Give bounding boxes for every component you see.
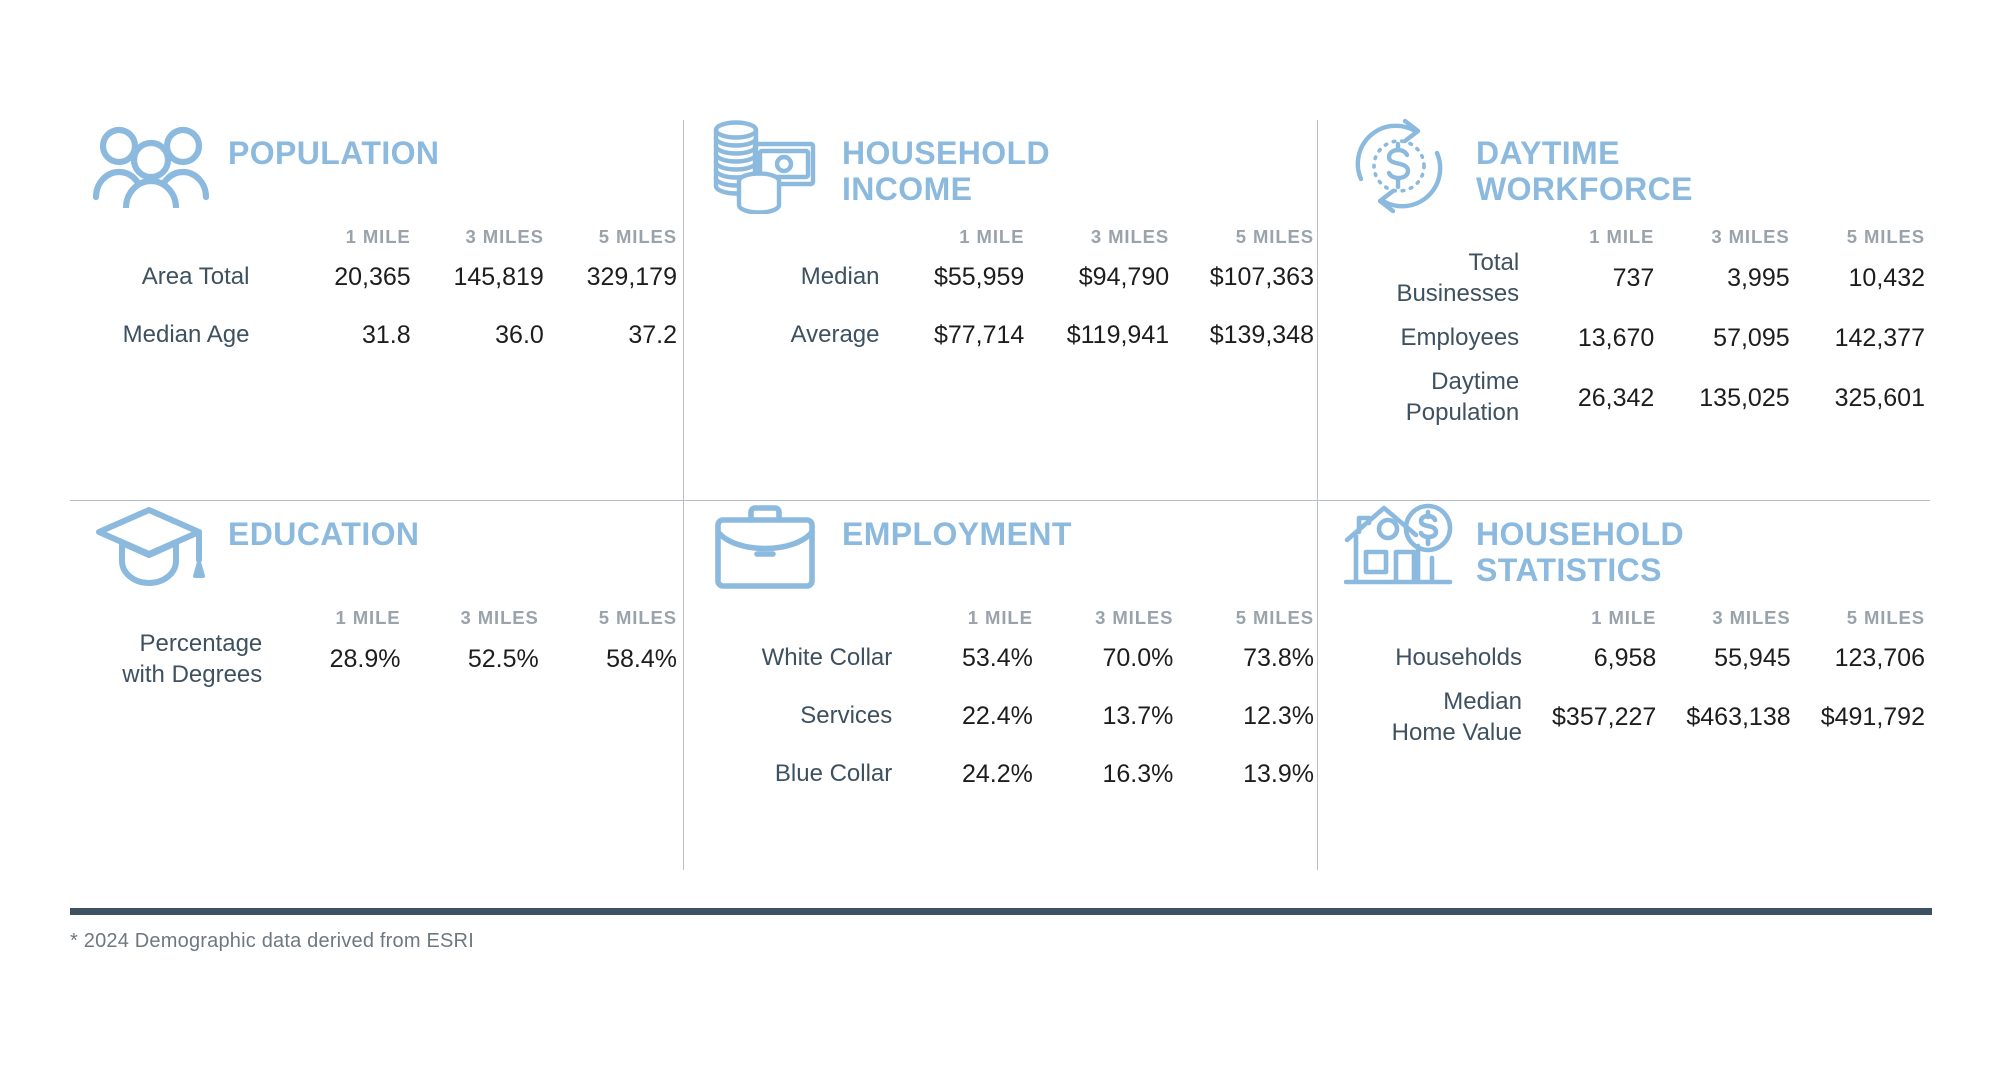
column-header-5miles: 5 MILES [1173,607,1314,629]
cell-value: $357,227 [1522,687,1656,748]
panel-title-population: POPULATION [228,120,439,172]
table-header-row: 1 MILE 3 MILES 5 MILES [1340,607,1925,629]
cell-value: 31.8 [279,306,410,364]
panel-title-daytime-workforce: DAYTIME WORKFORCE [1476,120,1693,208]
cell-value: $77,714 [880,306,1025,364]
column-header-3miles: 3 MILES [411,226,544,248]
column-header-5miles: 5 MILES [1790,226,1925,248]
table-header-row: 1 MILE 3 MILES 5 MILES [714,226,1314,248]
table-row: Total Businesses 737 3,995 10,432 [1340,248,1925,309]
table-row: Median $55,959 $94,790 $107,363 [714,248,1314,306]
row-label: Median Age [92,306,279,364]
column-header-3miles: 3 MILES [1024,226,1169,248]
cell-value: $119,941 [1024,306,1169,364]
panel-header-household-income: HOUSEHOLD INCOME [684,120,1317,216]
table-row: Daytime Population 26,342 135,025 325,60… [1340,367,1925,428]
panel-household-income: HOUSEHOLD INCOME 1 MILE 3 MILES 5 MILES … [683,120,1317,500]
panel-title-household-income: HOUSEHOLD INCOME [842,120,1050,208]
panel-employment: EMPLOYMENT 1 MILE 3 MILES 5 MILES White … [683,500,1317,870]
panel-population: POPULATION 1 MILE 3 MILES 5 MILES Area T… [70,120,683,500]
table-row: White Collar 53.4% 70.0% 73.8% [714,629,1314,687]
table-row: Median Age 31.8 36.0 37.2 [92,306,677,364]
cell-value: $139,348 [1169,306,1314,364]
column-header-3miles: 3 MILES [401,607,539,629]
panel-daytime-workforce: DAYTIME WORKFORCE 1 MILE 3 MILES 5 MILES… [1317,120,1930,500]
briefcase-icon [706,501,824,593]
column-header-5miles: 5 MILES [1791,607,1925,629]
table-employment: 1 MILE 3 MILES 5 MILES White Collar 53.4… [714,607,1314,803]
graduation-cap-icon [92,501,210,593]
cell-value: $463,138 [1656,687,1790,748]
column-header-5miles: 5 MILES [1169,226,1314,248]
cell-value: 329,179 [544,248,677,306]
table-population: 1 MILE 3 MILES 5 MILES Area Total 20,365… [92,226,677,364]
row-label-header [1340,226,1519,248]
panel-title-employment: EMPLOYMENT [842,501,1072,553]
house-dollar-icon [1340,501,1458,593]
people-group-icon [92,120,210,212]
row-label-header [1340,607,1522,629]
table-row: Average $77,714 $119,941 $139,348 [714,306,1314,364]
row-label: Daytime Population [1340,367,1519,428]
table-row: Employees 13,670 57,095 142,377 [1340,309,1925,367]
cell-value: 37.2 [544,306,677,364]
panel-education: EDUCATION 1 MILE 3 MILES 5 MILES Percent… [70,500,683,870]
table-header-row: 1 MILE 3 MILES 5 MILES [92,607,677,629]
cell-value: 325,601 [1790,367,1925,428]
coins-cash-icon [706,120,824,212]
panel-header-education: EDUCATION [70,501,683,597]
column-header-1mile: 1 MILE [892,607,1033,629]
table-row: Median Home Value $357,227 $463,138 $491… [1340,687,1925,748]
footer-note: * 2024 Demographic data derived from ESR… [70,930,474,953]
table-daytime-workforce: 1 MILE 3 MILES 5 MILES Total Businesses … [1340,226,1925,429]
cell-value: 22.4% [892,687,1033,745]
row-label-header [714,607,892,629]
cell-value: 55,945 [1656,629,1790,687]
cell-value: 58.4% [539,629,677,690]
row-label: Total Businesses [1340,248,1519,309]
column-header-1mile: 1 MILE [880,226,1025,248]
cell-value: 20,365 [279,248,410,306]
cell-value: 145,819 [411,248,544,306]
cell-value: 3,995 [1654,248,1789,309]
table-header-row: 1 MILE 3 MILES 5 MILES [92,226,677,248]
column-header-3miles: 3 MILES [1656,607,1790,629]
cell-value: 13,670 [1519,309,1654,367]
column-header-1mile: 1 MILE [1519,226,1654,248]
cell-value: 24.2% [892,745,1033,803]
cell-value: $491,792 [1791,687,1925,748]
row-label: Blue Collar [714,745,892,803]
cell-value: 13.7% [1033,687,1174,745]
cell-value: 57,095 [1654,309,1789,367]
panel-household-statistics: HOUSEHOLD STATISTICS 1 MILE 3 MILES 5 MI… [1317,500,1930,870]
table-header-row: 1 MILE 3 MILES 5 MILES [1340,226,1925,248]
cell-value: 73.8% [1173,629,1314,687]
column-header-1mile: 1 MILE [1522,607,1656,629]
row-label: Percentage with Degrees [92,629,262,690]
column-header-1mile: 1 MILE [279,226,410,248]
cell-value: 142,377 [1790,309,1925,367]
cell-value: $55,959 [880,248,1025,306]
row-label-header [714,226,880,248]
cell-value: 12.3% [1173,687,1314,745]
row-label: Households [1340,629,1522,687]
column-header-1mile: 1 MILE [262,607,400,629]
table-row: Blue Collar 24.2% 16.3% 13.9% [714,745,1314,803]
row-label: Employees [1340,309,1519,367]
column-header-5miles: 5 MILES [539,607,677,629]
panel-header-population: POPULATION [70,120,683,216]
cell-value: 737 [1519,248,1654,309]
column-header-5miles: 5 MILES [544,226,677,248]
cell-value: 10,432 [1790,248,1925,309]
cell-value: 123,706 [1791,629,1925,687]
column-header-3miles: 3 MILES [1654,226,1789,248]
panel-title-household-statistics: HOUSEHOLD STATISTICS [1476,501,1684,589]
row-label: Median [714,248,880,306]
dollar-refresh-icon [1340,120,1458,212]
cell-value: 52.5% [401,629,539,690]
table-row: Services 22.4% 13.7% 12.3% [714,687,1314,745]
stats-grid: POPULATION 1 MILE 3 MILES 5 MILES Area T… [70,120,1930,870]
panel-header-daytime-workforce: DAYTIME WORKFORCE [1318,120,1930,216]
row-label: Services [714,687,892,745]
panel-header-employment: EMPLOYMENT [684,501,1317,597]
cell-value: 53.4% [892,629,1033,687]
cell-value: 6,958 [1522,629,1656,687]
table-row: Households 6,958 55,945 123,706 [1340,629,1925,687]
cell-value: $107,363 [1169,248,1314,306]
row-label-header [92,607,262,629]
row-label: Average [714,306,880,364]
cell-value: $94,790 [1024,248,1169,306]
table-education: 1 MILE 3 MILES 5 MILES Percentage with D… [92,607,677,690]
cell-value: 70.0% [1033,629,1174,687]
table-row: Percentage with Degrees 28.9% 52.5% 58.4… [92,629,677,690]
table-row: Area Total 20,365 145,819 329,179 [92,248,677,306]
cell-value: 135,025 [1654,367,1789,428]
cell-value: 13.9% [1173,745,1314,803]
row-label: Median Home Value [1340,687,1522,748]
row-label: Area Total [92,248,279,306]
footer-divider [70,908,1932,915]
cell-value: 16.3% [1033,745,1174,803]
table-household-statistics: 1 MILE 3 MILES 5 MILES Households 6,958 … [1340,607,1925,748]
row-label: White Collar [714,629,892,687]
row-label-header [92,226,279,248]
cell-value: 26,342 [1519,367,1654,428]
panel-header-household-statistics: HOUSEHOLD STATISTICS [1318,501,1930,597]
cell-value: 36.0 [411,306,544,364]
table-header-row: 1 MILE 3 MILES 5 MILES [714,607,1314,629]
demographics-infographic: POPULATION 1 MILE 3 MILES 5 MILES Area T… [0,0,2000,1080]
panel-title-education: EDUCATION [228,501,419,553]
column-header-3miles: 3 MILES [1033,607,1174,629]
cell-value: 28.9% [262,629,400,690]
table-household-income: 1 MILE 3 MILES 5 MILES Median $55,959 $9… [714,226,1314,364]
